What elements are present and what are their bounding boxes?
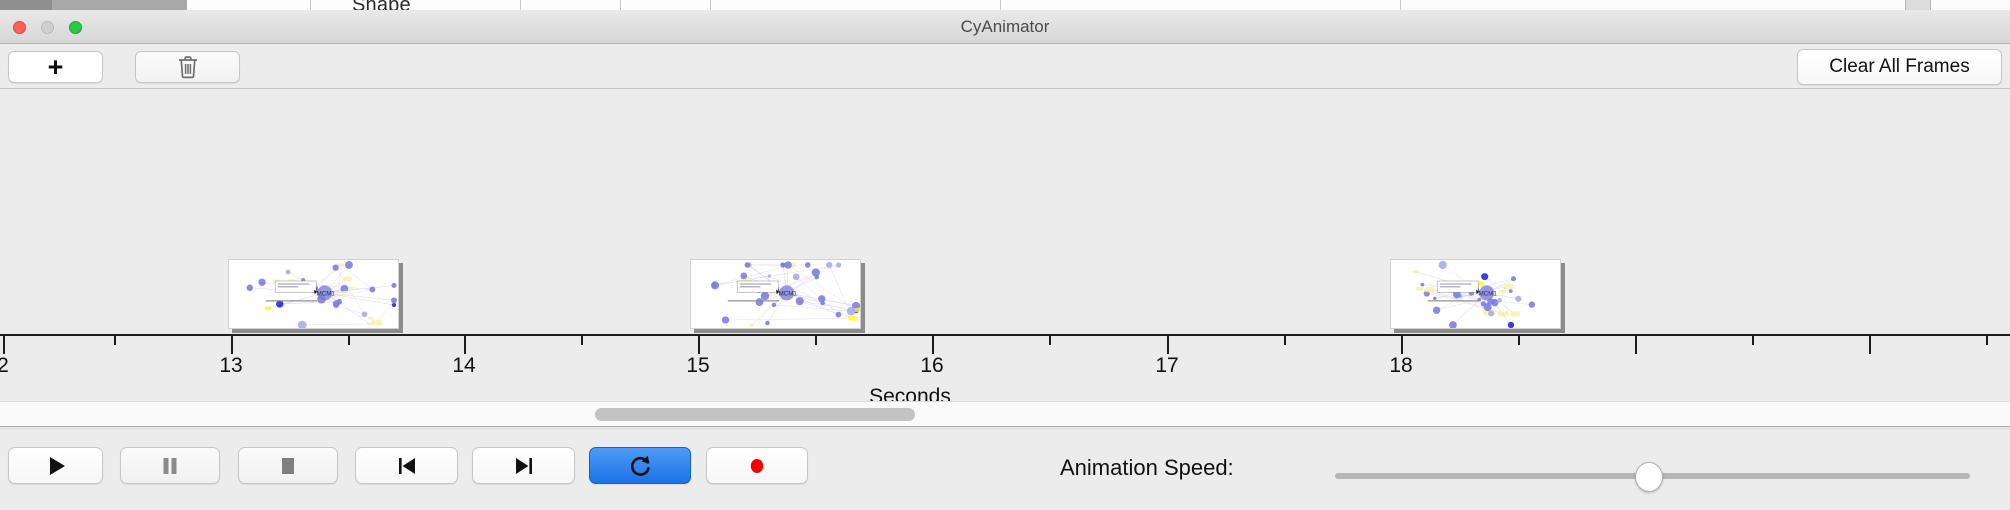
skip-back-icon xyxy=(395,454,419,478)
pause-button[interactable] xyxy=(120,447,220,484)
play-button[interactable] xyxy=(8,447,103,484)
axis-tick-minor xyxy=(581,336,583,345)
background-cell xyxy=(188,0,311,10)
background-cell xyxy=(621,0,711,10)
svg-text:MCM1: MCM1 xyxy=(779,291,798,298)
axis-title-label: Seconds xyxy=(869,385,951,401)
playback-control-bar: Animation Speed: xyxy=(0,428,2010,510)
axis-tick-label: 2 xyxy=(0,354,33,378)
svg-text:MCM1: MCM1 xyxy=(317,291,336,298)
axis-tick-label: 16 xyxy=(902,354,962,378)
delete-frame-button[interactable] xyxy=(135,51,240,83)
axis-tick-minor xyxy=(1518,336,1520,345)
background-tab-dark-2 xyxy=(52,0,187,10)
network-thumbnail-graph: MCM1 xyxy=(1391,260,1561,329)
axis-tick-major xyxy=(1401,336,1403,354)
axis-tick-major xyxy=(3,336,5,354)
svg-text:MCM1: MCM1 xyxy=(1479,291,1498,298)
axis-tick-label: 14 xyxy=(434,354,494,378)
frame-thumbnail[interactable]: MCM1 xyxy=(690,259,865,333)
frame-thumbnail[interactable]: MCM1 xyxy=(228,259,403,333)
frame-sheet: MCM1 xyxy=(228,259,399,329)
axis-tick-major xyxy=(932,336,934,354)
pause-icon xyxy=(159,454,181,478)
axis-tick-major xyxy=(698,336,700,354)
background-cell xyxy=(311,0,521,10)
frame-sheet: MCM1 xyxy=(1390,259,1561,329)
record-button[interactable] xyxy=(706,447,808,484)
scrollbar-thumb[interactable] xyxy=(595,408,915,421)
network-thumbnail-graph: MCM1 xyxy=(229,260,399,329)
axis-tick-label: 15 xyxy=(668,354,728,378)
timeline-panel[interactable]: MCM1MCM1MCM1 2131415161718 Seconds xyxy=(0,89,2010,401)
frame-sheet: MCM1 xyxy=(690,259,861,329)
toolbar: + Clear All Frames xyxy=(0,44,2010,89)
timeline-scrollbar[interactable] xyxy=(0,401,2010,427)
background-app-strip: Shape xyxy=(0,0,2010,10)
axis-tick-major xyxy=(1869,336,1871,354)
frame-thumbnail[interactable]: MCM1 xyxy=(1390,259,1565,333)
cyanimator-window: Shape CyAnimator + Clear All Frames MCM1… xyxy=(0,0,2010,510)
add-frame-button[interactable]: + xyxy=(8,51,103,83)
axis-tick-major xyxy=(1167,336,1169,354)
plus-icon: + xyxy=(48,54,64,81)
background-cell xyxy=(1001,0,1401,10)
axis-tick-major xyxy=(231,336,233,354)
axis-title: Seconds xyxy=(0,385,2010,401)
previous-frame-button[interactable] xyxy=(355,447,458,484)
axis-tick-minor xyxy=(348,336,350,345)
loop-button[interactable] xyxy=(589,447,691,484)
clear-all-frames-label: Clear All Frames xyxy=(1829,56,1969,78)
axis-tick-minor xyxy=(1049,336,1051,345)
record-icon xyxy=(745,454,769,478)
network-thumbnail-graph: MCM1 xyxy=(691,260,861,329)
stop-icon xyxy=(277,454,299,478)
background-cell xyxy=(521,0,621,10)
play-icon xyxy=(45,454,67,478)
axis-tick-major xyxy=(464,336,466,354)
axis-tick-minor xyxy=(1752,336,1754,345)
stop-button[interactable] xyxy=(238,447,338,484)
axis-tick-minor xyxy=(1284,336,1286,345)
timeline-axis xyxy=(0,334,2010,336)
axis-tick-label: 17 xyxy=(1137,354,1197,378)
clear-all-frames-button[interactable]: Clear All Frames xyxy=(1797,49,2002,85)
animation-speed-slider-thumb[interactable] xyxy=(1635,462,1663,492)
loop-icon xyxy=(627,453,653,479)
background-tab-dark xyxy=(0,0,52,10)
axis-tick-label: 18 xyxy=(1371,354,1431,378)
window-title: CyAnimator xyxy=(0,10,2010,44)
axis-tick-major xyxy=(1635,336,1637,354)
axis-tick-minor xyxy=(114,336,116,345)
axis-tick-minor xyxy=(815,336,817,345)
next-frame-button[interactable] xyxy=(472,447,575,484)
trash-icon xyxy=(177,55,199,79)
axis-tick-label: 13 xyxy=(201,354,261,378)
axis-tick-minor xyxy=(1986,336,1988,345)
background-scroll-arrow xyxy=(1905,0,1931,10)
skip-forward-icon xyxy=(512,454,536,478)
title-bar: CyAnimator xyxy=(0,10,2010,44)
animation-speed-label: Animation Speed: xyxy=(1060,455,1234,481)
background-cell xyxy=(711,0,1001,10)
